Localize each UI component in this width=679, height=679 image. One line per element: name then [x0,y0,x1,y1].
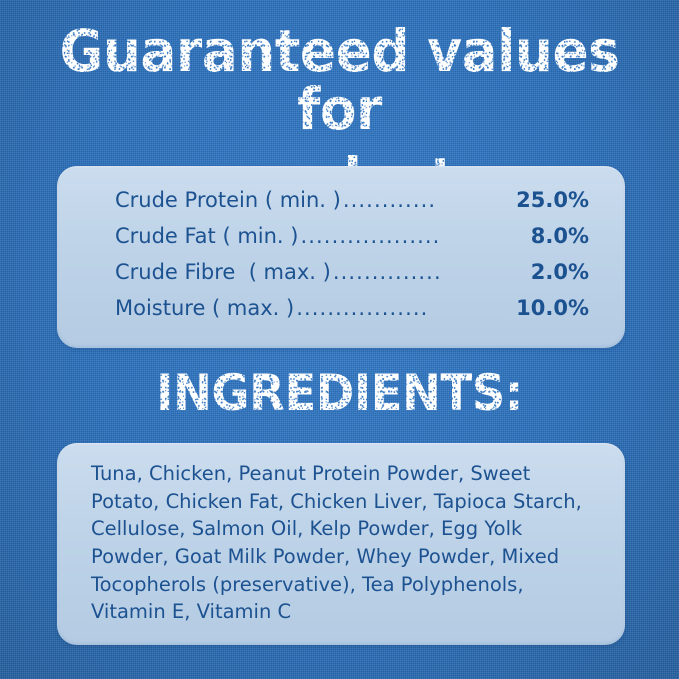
analysis-value: 10.0% [430,298,589,319]
ingredients-panel: Tuna, Chicken, Peanut Protein Powder, Sw… [57,443,625,645]
analysis-nutrient-name: Moisture ( max. ) [115,298,294,319]
analysis-dot-leader: .................. [298,226,442,247]
ingredients-heading-text: INGREDIENTS: [24,368,655,418]
analysis-row: Crude Fat ( min. ) .................. 8.… [115,226,589,247]
analysis-nutrient-name: Crude Fat ( min. ) [115,226,298,247]
analysis-dot-leader: .............. [331,262,444,283]
analysis-value: 8.0% [442,226,589,247]
guaranteed-analysis-list: Crude Protein ( min. ) ............ 25.0… [115,190,589,319]
analysis-dot-leader: ................. [294,298,430,319]
analysis-row: Crude Protein ( min. ) ............ 25.0… [115,190,589,211]
analysis-row: Moisture ( max. ) ................. 10.0… [115,298,589,319]
analysis-nutrient-name: Crude Fibre ( max. ) [115,262,331,283]
analysis-value: 2.0% [444,262,589,283]
guaranteed-analysis-panel: Crude Protein ( min. ) ............ 25.0… [57,166,625,348]
guaranteed-heading-line-1: Guaranteed values for [27,22,652,138]
ingredients-list-text: Tuna, Chicken, Peanut Protein Powder, Sw… [91,460,597,626]
product-label: Guaranteed values for product compositio… [0,0,679,679]
analysis-row: Crude Fibre ( max. ) .............. 2.0% [115,262,589,283]
analysis-value: 25.0% [438,190,589,211]
analysis-nutrient-name: Crude Protein ( min. ) [115,190,341,211]
analysis-dot-leader: ............ [341,190,438,211]
ingredients-heading: INGREDIENTS: [0,368,679,418]
